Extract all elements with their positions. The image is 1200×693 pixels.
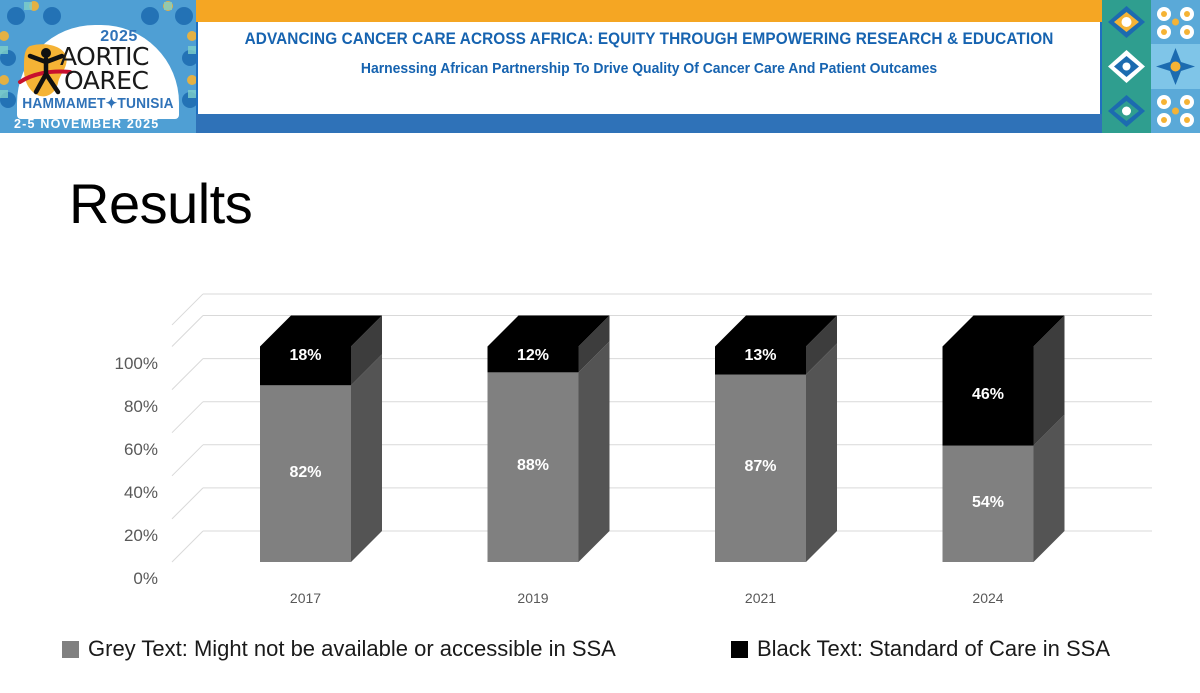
chart-legend: Grey Text: Might not be available or acc…: [0, 632, 1200, 676]
banner-orange-stripe: [196, 0, 1102, 22]
banner-text-block: ADVANCING CANCER CARE ACROSS AFRICA: EQU…: [200, 30, 1098, 77]
bar-value-2021-black: 13%: [716, 347, 806, 365]
slide-body: Results 0%20%40%60%80%100% 2017201920212…: [0, 133, 1200, 693]
bar-value-2017-black: 18%: [261, 347, 351, 365]
bar-value-2021-grey: 87%: [716, 458, 806, 476]
y-axis-tick-20: 20%: [88, 526, 158, 546]
bar-value-2024-grey: 54%: [943, 494, 1033, 512]
conference-theme-title: ADVANCING CANCER CARE ACROSS AFRICA: EQU…: [231, 30, 1066, 49]
bar-value-2019-black: 12%: [488, 347, 578, 365]
aortic-oarec-logo: 2025 AORTIC OAREC HAMMAMET✦TUNISIA 2-5 N…: [0, 0, 196, 133]
x-axis-tick-2021: 2021: [701, 590, 821, 606]
legend-swatch-black-icon: [731, 641, 748, 658]
x-axis-tick-2017: 2017: [246, 590, 366, 606]
x-axis-tick-2019: 2019: [473, 590, 593, 606]
bar-value-2017-grey: 82%: [261, 464, 351, 482]
legend-label-grey: Grey Text: Might not be available or acc…: [88, 636, 616, 662]
y-axis-tick-60: 60%: [88, 440, 158, 460]
y-axis-tick-0: 0%: [88, 569, 158, 589]
x-axis-tick-2024: 2024: [928, 590, 1048, 606]
logo-dates-label: 2-5 NOVEMBER 2025: [0, 114, 196, 133]
y-axis-tick-100: 100%: [88, 354, 158, 374]
legend-label-black: Black Text: Standard of Care in SSA: [757, 636, 1110, 662]
legend-item-grey: Grey Text: Might not be available or acc…: [62, 636, 616, 662]
legend-swatch-grey-icon: [62, 641, 79, 658]
chart-canvas: [0, 133, 1200, 693]
logo-location-label: HAMMAMET✦TUNISIA: [21, 96, 175, 112]
y-axis-tick-40: 40%: [88, 483, 158, 503]
stacked-bar-chart-3d: 0%20%40%60%80%100% 2017201920212024 82%1…: [0, 133, 1200, 693]
conference-theme-subtitle: Harnessing African Partnership To Drive …: [231, 60, 1066, 77]
bar-value-2024-black: 46%: [943, 386, 1033, 404]
legend-item-black: Black Text: Standard of Care in SSA: [731, 636, 1110, 662]
conference-banner: ADVANCING CANCER CARE ACROSS AFRICA: EQU…: [0, 0, 1200, 133]
tunisian-tile-pattern-icon: [1102, 0, 1200, 133]
bar-value-2019-grey: 88%: [488, 457, 578, 475]
logo-oarec-label: OAREC: [64, 66, 148, 95]
y-axis-tick-80: 80%: [88, 397, 158, 417]
